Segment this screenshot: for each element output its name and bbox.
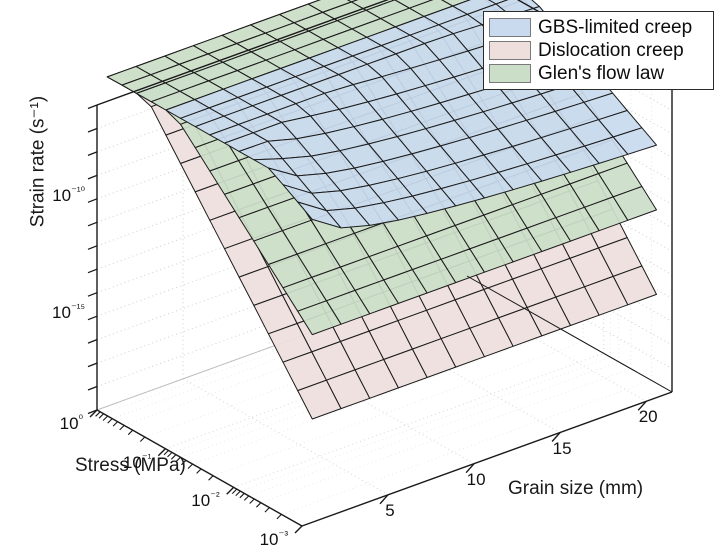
legend-item-dislocation-creep: Dislocation creep — [489, 39, 708, 62]
y-tick-label-3: 20 — [639, 407, 658, 427]
z-axis-label-wrapper: Strain rate (s⁻¹) — [27, 62, 50, 262]
z-axis-label: Strain rate (s⁻¹) — [27, 96, 50, 227]
z-tick-label-1: 10⁻¹⁵ — [52, 303, 85, 323]
legend-item-glens-flow-law: Glen's flow law — [489, 62, 708, 85]
legend-label-dislocation: Dislocation creep — [538, 41, 684, 60]
legend: GBS-limited creep Dislocation creep Glen… — [483, 11, 714, 90]
legend-swatch-glen — [489, 64, 531, 83]
y-tick-label-1: 10 — [467, 470, 486, 490]
y-tick-label-0: 5 — [385, 501, 394, 521]
x-tick-label-3: 10⁻³ — [260, 530, 288, 550]
y-tick-label-2: 15 — [553, 439, 572, 459]
legend-swatch-dislocation — [489, 41, 531, 60]
legend-item-gbs-limited-creep: GBS-limited creep — [489, 16, 708, 39]
x-tick-label-0: 10⁰ — [60, 414, 83, 434]
y-axis-label: Grain size (mm) — [508, 478, 643, 500]
x-tick-label-2: 10⁻² — [191, 491, 219, 511]
legend-swatch-gbs — [489, 18, 531, 37]
legend-label-glen: Glen's flow law — [538, 64, 664, 83]
figure-3d-surface-plot: Strain rate (s⁻¹) Stress (MPa) Grain siz… — [0, 0, 723, 542]
legend-label-gbs: GBS-limited creep — [538, 18, 692, 37]
x-tick-label-1: 10⁻¹ — [123, 453, 151, 473]
z-tick-label-0: 10⁻¹⁰ — [52, 186, 85, 206]
